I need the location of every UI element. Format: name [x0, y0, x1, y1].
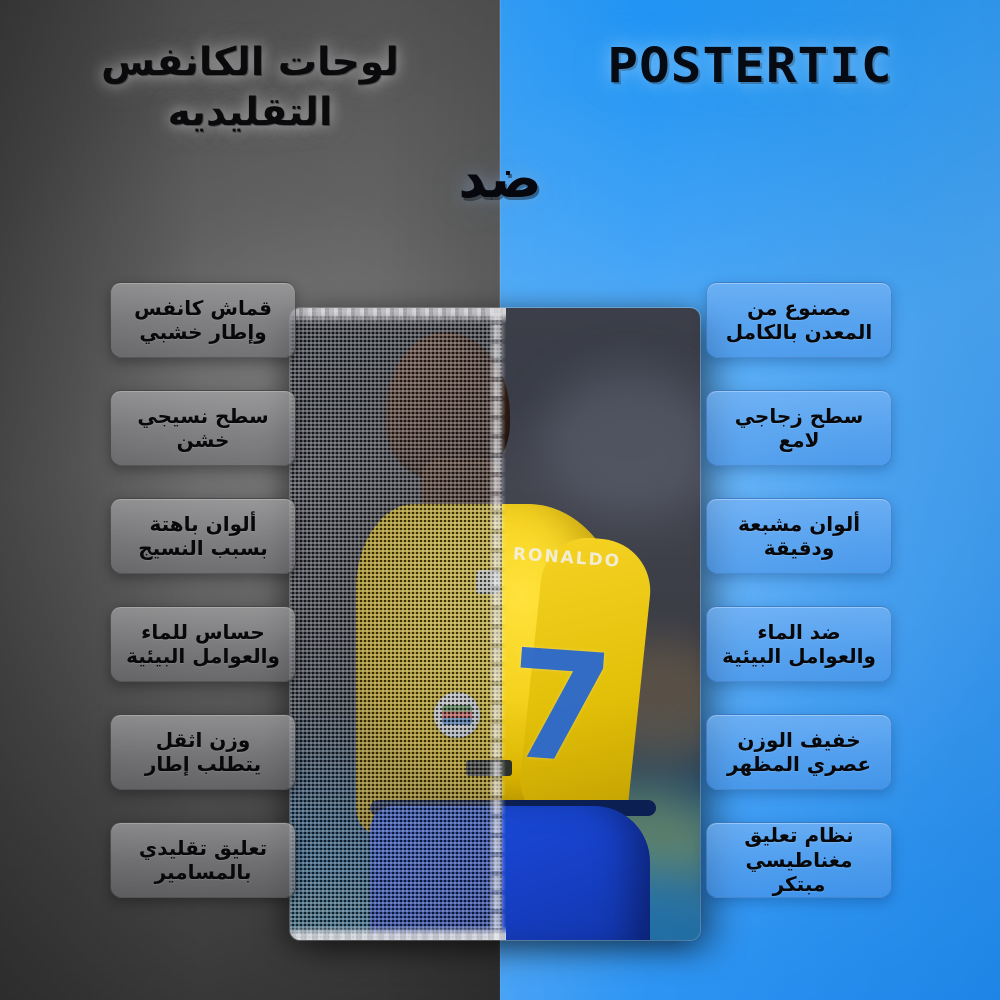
left-feature-card-3[interactable]: ألوان باهتة بسبب النسيج: [110, 498, 296, 574]
left-feature-card-2[interactable]: سطح نسيجي خشن: [110, 390, 296, 466]
right-feature-card-3[interactable]: ألوان مشبعة ودقيقة: [706, 498, 892, 574]
left-feature-card-6[interactable]: تعليق تقليدي بالمسامير: [110, 822, 296, 898]
versus-label: ضد: [0, 152, 1000, 206]
left-heading: لوحات الكانفس التقليديه: [40, 38, 460, 138]
right-feature-card-4[interactable]: ضد الماء والعوامل البيئية: [706, 606, 892, 682]
right-feature-list: مصنوع من المعدن بالكامل سطح زجاجي لامع أ…: [706, 282, 892, 898]
right-feature-card-1[interactable]: مصنوع من المعدن بالكامل: [706, 282, 892, 358]
center-photo-panel: RONALDO 7: [290, 308, 700, 940]
background-blur-blob: [540, 368, 700, 518]
canvas-torn-bottom-edge: [290, 926, 506, 940]
left-feature-card-4[interactable]: حساس للماء والعوامل البيئية: [110, 606, 296, 682]
right-feature-card-2[interactable]: سطح زجاجي لامع: [706, 390, 892, 466]
canvas-texture-overlay: [290, 308, 502, 940]
right-feature-card-5[interactable]: خفيف الوزن عصري المظهر: [706, 714, 892, 790]
left-feature-list: قماش كانفس وإطار خشبي سطح نسيجي خشن ألوا…: [110, 282, 296, 898]
left-feature-card-1[interactable]: قماش كانفس وإطار خشبي: [110, 282, 296, 358]
canvas-torn-right-edge: [488, 308, 506, 940]
canvas-torn-top-edge: [290, 308, 506, 324]
right-feature-card-6[interactable]: نظام تعليق مغناطيسي مبتكر: [706, 822, 892, 898]
left-feature-card-5[interactable]: وزن اثقل يتطلب إطار: [110, 714, 296, 790]
jersey-number-text: 7: [493, 604, 627, 812]
poster-root: لوحات الكانفس التقليديه POSTERTIC ضد RON…: [0, 0, 1000, 1000]
brand-logo: POSTERTIC: [527, 40, 972, 93]
